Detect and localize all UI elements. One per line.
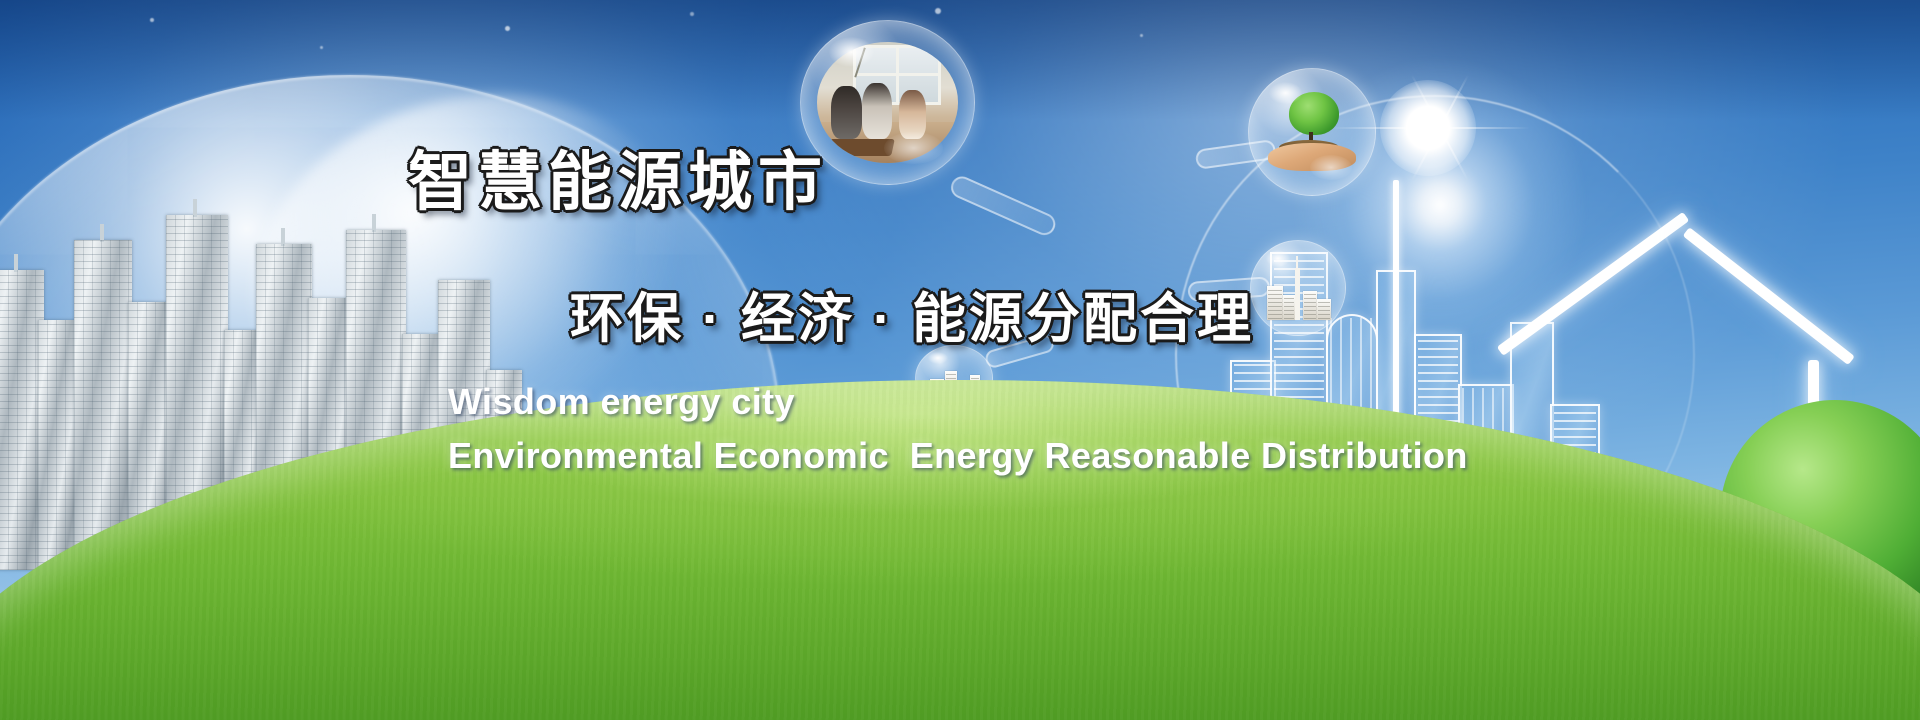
house-roof-left [1497, 212, 1690, 356]
bubble-highlight [1269, 82, 1302, 105]
sky-speck [320, 46, 323, 49]
smart-energy-city-banner: 智慧能源城市 环保 · 经济 · 能源分配合理 Wisdom energy ci… [0, 0, 1920, 720]
sky-speck [1140, 34, 1143, 37]
sky-speck [505, 26, 510, 31]
sky-speck [690, 12, 694, 16]
banner-copy: 智慧能源城市 环保 · 经济 · 能源分配合理 Wisdom energy ci… [400, 150, 1360, 491]
person-mother [862, 83, 892, 138]
bubble-highlight [829, 37, 874, 66]
house-roof-right [1683, 227, 1855, 365]
subheadline-chinese: 环保 · 经济 · 能源分配合理 [570, 292, 1360, 346]
tagline-english-secondary: Environmental Economic Energy Reasonable… [448, 436, 1360, 476]
sky-speck [935, 8, 941, 14]
skyline-tower [38, 320, 78, 570]
person-father [831, 86, 862, 139]
tagline-english-primary: Wisdom energy city [448, 382, 1360, 422]
sky-speck [150, 18, 154, 22]
headline-chinese: 智慧能源城市 [408, 150, 1360, 214]
